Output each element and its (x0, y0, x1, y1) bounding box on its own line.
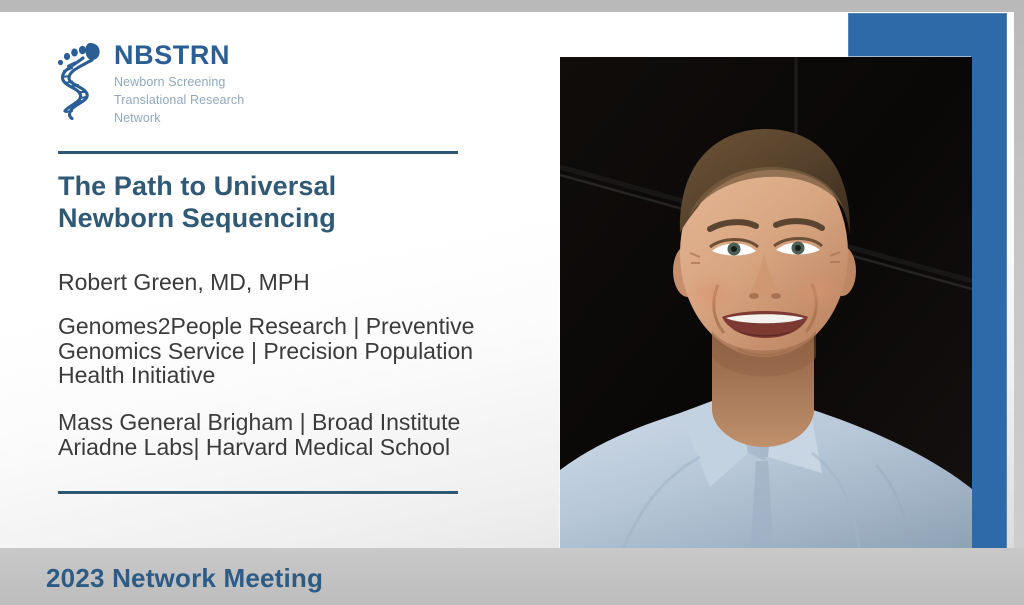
nbstrn-logo: NBSTRN Newborn ScreeningTranslational Re… (52, 36, 244, 127)
logo-tagline: Newborn ScreeningTranslational ResearchN… (114, 74, 244, 127)
speaker-portrait-image (560, 57, 972, 557)
speaker-institutions: Mass General Brigham | Broad Institute A… (58, 410, 538, 459)
logo-wordmark: NBSTRN Newborn ScreeningTranslational Re… (114, 36, 244, 127)
divider-rule-bottom (58, 491, 458, 494)
dna-footprint-icon (52, 36, 104, 120)
slide-title: The Path to UniversalNewborn Sequencing (58, 170, 528, 235)
speaker-portrait (560, 57, 972, 557)
speaker-programs: Genomes2People Research | Preventive Gen… (58, 314, 538, 388)
logo-brand-name: NBSTRN (114, 42, 244, 69)
divider-rule-top (58, 151, 458, 154)
presentation-slide: NBSTRN Newborn ScreeningTranslational Re… (0, 0, 1024, 605)
speaker-name: Robert Green, MD, MPH (58, 268, 310, 297)
footer-event-title: 2023 Network Meeting (46, 563, 323, 594)
